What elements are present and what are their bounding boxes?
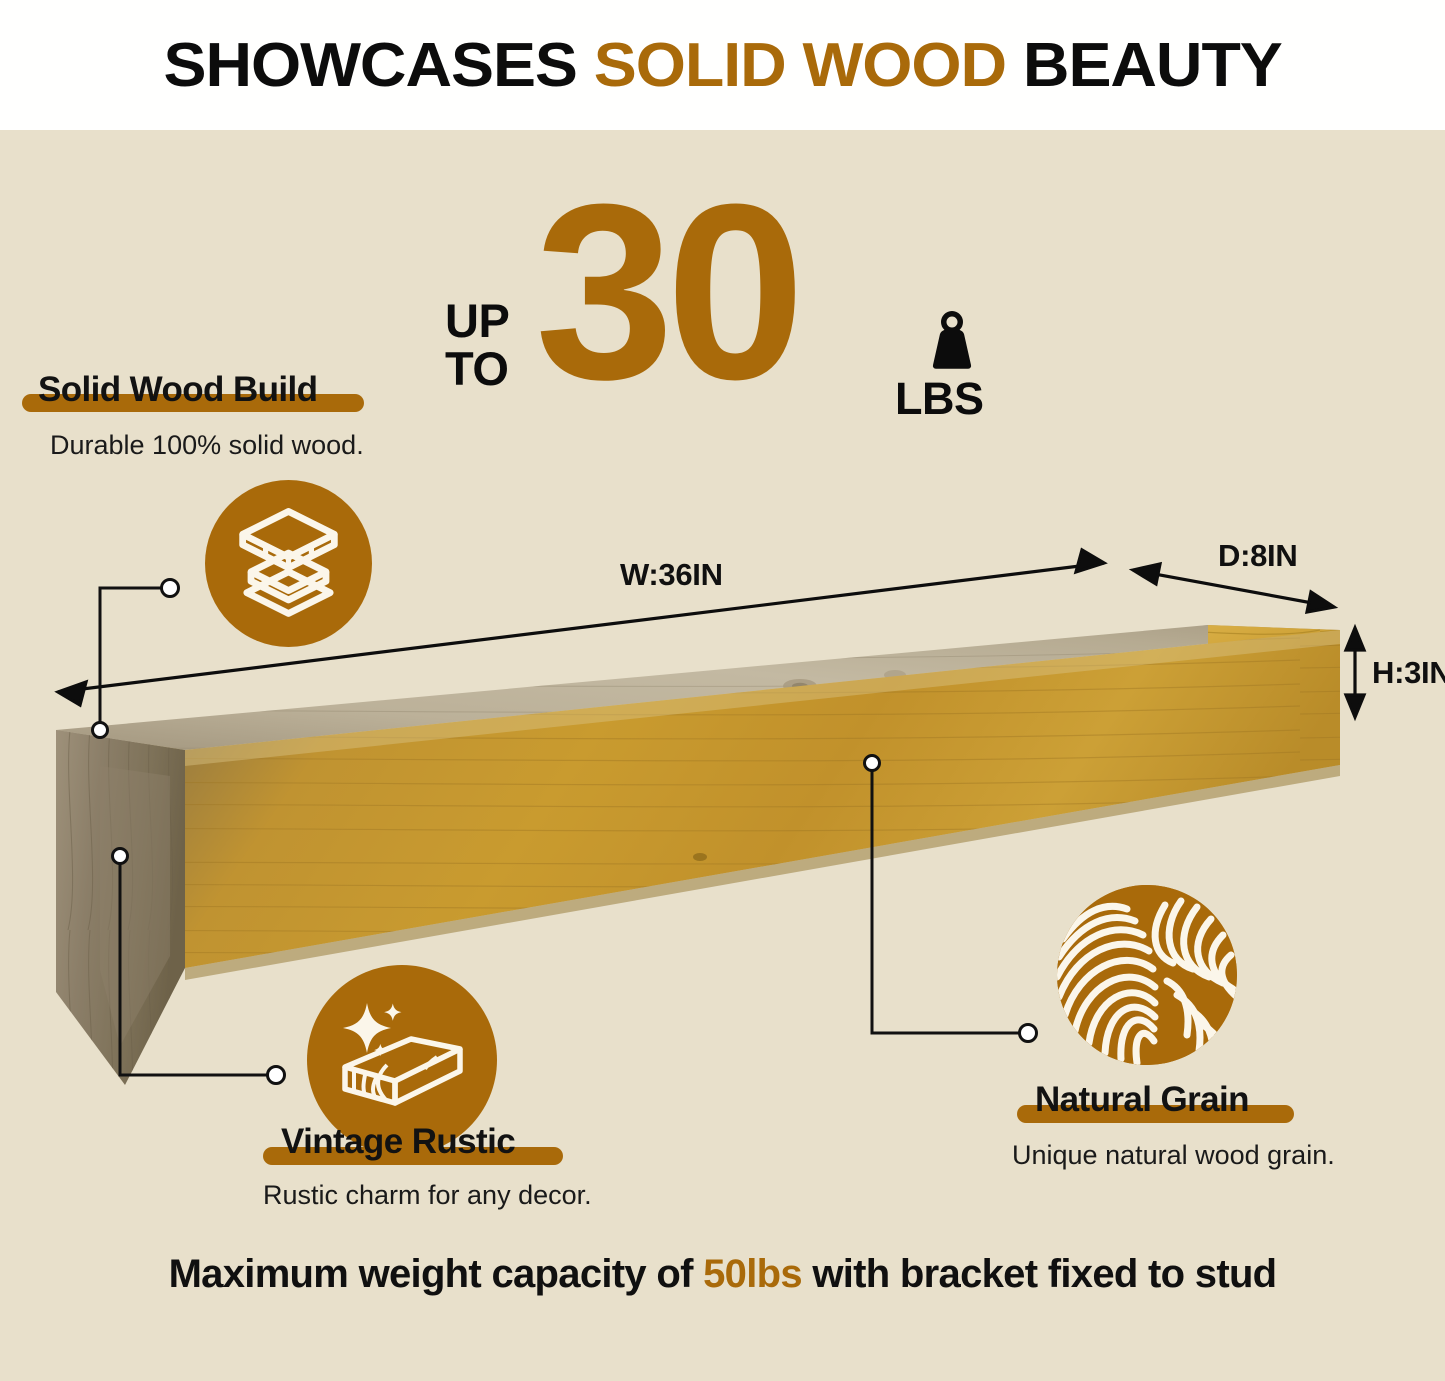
natural-grain-subtitle: Unique natural wood grain. <box>1012 1140 1335 1171</box>
width-dimension-label: W:36IN <box>620 557 723 593</box>
footer-accent: 50lbs <box>703 1252 802 1296</box>
height-dimension-label: H:3IN <box>1372 655 1445 691</box>
solid-wood-build-subtitle: Durable 100% solid wood. <box>50 430 364 461</box>
capacity-value: 30 <box>535 177 797 407</box>
up-word: UP <box>445 294 509 347</box>
footer-note: Maximum weight capacity of 50lbs with br… <box>0 1252 1445 1297</box>
page-title-part1: SHOWCASES <box>163 31 593 100</box>
capacity-unit: LBS <box>895 373 984 425</box>
depth-dimension-label: D:8IN <box>1218 538 1297 574</box>
footer-prefix: Maximum weight capacity of <box>169 1252 704 1296</box>
stacked-planks-icon <box>205 480 372 647</box>
weight-capacity-badge: UPTO 30 LBS <box>440 175 1040 425</box>
infographic-stage: UPTO 30 LBS Solid Wood Build Durable 100… <box>0 130 1445 1381</box>
header-band: SHOWCASES SOLID WOOD BEAUTY <box>0 0 1445 130</box>
up-to-label: UPTO <box>445 297 509 393</box>
to-word: TO <box>445 342 508 395</box>
wood-grain-fingerprint-icon <box>1057 885 1237 1065</box>
natural-grain-title: Natural Grain <box>1035 1080 1249 1120</box>
vintage-rustic-title: Vintage Rustic <box>281 1122 515 1162</box>
weight-kettlebell-icon <box>915 303 989 377</box>
page-title-part2: BEAUTY <box>1006 31 1282 100</box>
vintage-rustic-subtitle: Rustic charm for any decor. <box>263 1180 592 1211</box>
solid-wood-build-title: Solid Wood Build <box>38 370 317 410</box>
page-title: SHOWCASES SOLID WOOD BEAUTY <box>163 30 1281 101</box>
page-title-accent: SOLID WOOD <box>594 31 1006 100</box>
footer-suffix: with bracket fixed to stud <box>802 1252 1277 1296</box>
